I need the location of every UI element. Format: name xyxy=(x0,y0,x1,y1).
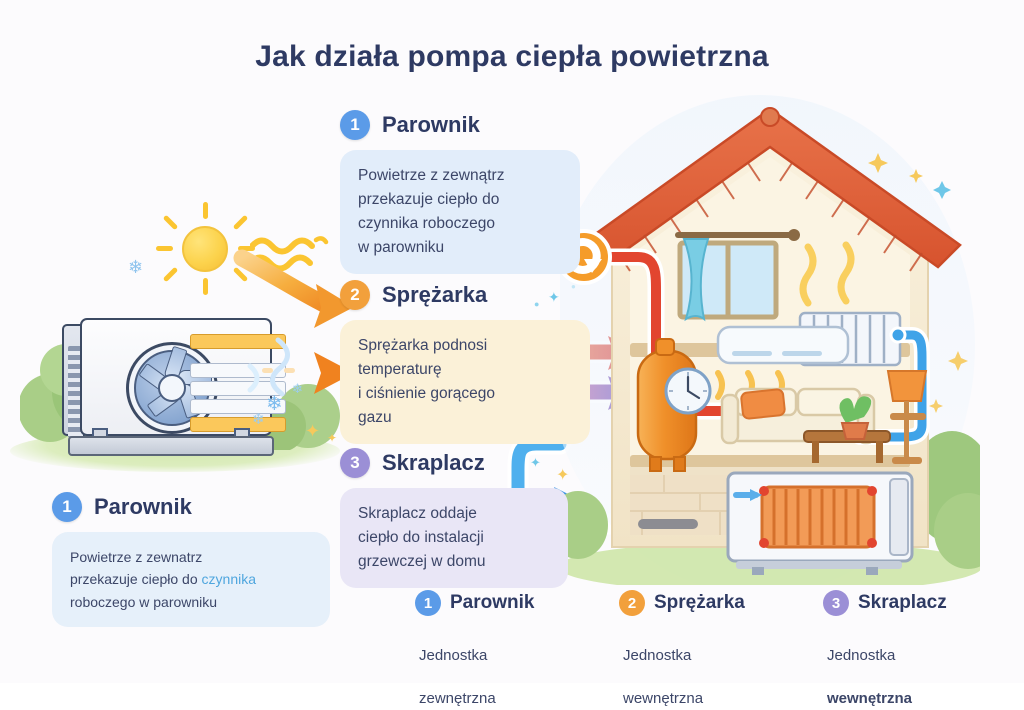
legend-sub-2-line2: wewnętrzna xyxy=(623,690,703,707)
step-header: 2 Sprężarka xyxy=(340,280,590,310)
legend-badge-3: 3 xyxy=(823,590,849,616)
step-body-2: Sprężarka podnosi temperaturę i ciśnieni… xyxy=(340,320,590,444)
legend-sub-1-line1: Jednostka xyxy=(419,647,487,664)
dup-text-highlight: czynnika xyxy=(202,571,256,587)
legend-item-sprezarka[interactable]: 2 Sprężarka Jednostka wewnętrzna xyxy=(619,590,769,710)
legend-sub-3-line1: Jednostka xyxy=(827,647,895,664)
step-card-skraplacz[interactable]: 3 Skraplacz Skraplacz oddaje ciepło do i… xyxy=(340,448,568,588)
step-badge-dup: 1 xyxy=(52,492,82,522)
sparkle-icon: ✦ xyxy=(305,422,320,440)
step-badge-2: 2 xyxy=(340,280,370,310)
step-header: 3 Skraplacz xyxy=(340,448,568,478)
legend-header: 2 Sprężarka xyxy=(619,590,769,616)
legend: 1 Parownik Jednostka zewnętrzna 2 Spręża… xyxy=(415,590,975,710)
legend-sub-2: Jednostka wewnętrzna xyxy=(623,623,769,710)
legend-badge-2: 2 xyxy=(619,590,645,616)
legend-sub-1-line2: zewnętrzna xyxy=(419,690,496,707)
fan-hub xyxy=(158,374,186,402)
step-header: 1 Parownik xyxy=(340,110,580,140)
legend-sub-1: Jednostka zewnętrzna xyxy=(419,623,565,710)
step-body-1: Powietrze z zewnątrz przekazuje ciepło d… xyxy=(340,150,580,274)
legend-item-skraplacz[interactable]: 3 Skraplacz Jednostka wewnętrzna xyxy=(823,590,973,710)
legend-item-parownik[interactable]: 1 Parownik Jednostka zewnętrzna xyxy=(415,590,565,710)
legend-header: 1 Parownik xyxy=(415,590,565,616)
legend-title-1: Parownik xyxy=(450,592,534,614)
dup-text-part1: Powietrze z zewnatrz przekazuje ciepło d… xyxy=(70,549,202,587)
page-title: Jak działa pompa ciepła powietrzna xyxy=(0,40,1024,74)
legend-sub-2-line1: Jednostka xyxy=(623,647,691,664)
snowflake-icon: ❄ xyxy=(128,258,143,276)
step-body-dup: Powietrze z zewnatrz przekazuje ciepło d… xyxy=(52,532,330,627)
condenser-coil-unit xyxy=(728,473,912,575)
step-title-1: Parownik xyxy=(382,112,480,138)
step-badge-1: 1 xyxy=(340,110,370,140)
legend-header: 3 Skraplacz xyxy=(823,590,973,616)
step-title-3: Skraplacz xyxy=(382,450,485,476)
legend-sub-3-line2: wewnętrzna xyxy=(827,690,912,707)
legend-title-2: Sprężarka xyxy=(654,592,745,614)
step-badge-3: 3 xyxy=(340,448,370,478)
step-header: 1 Parownik xyxy=(52,492,330,522)
snowflake-icon: ❄ xyxy=(252,412,265,427)
infographic-canvas: Jak działa pompa ciepła powietrzna xyxy=(0,0,1024,683)
step-card-parownik-secondary[interactable]: 1 Parownik Powietrze z zewnatrz przekazu… xyxy=(52,492,330,627)
step-card-parownik[interactable]: 1 Parownik Powietrze z zewnątrz przekazu… xyxy=(340,110,580,274)
dup-text-part2: roboczego w parowniku xyxy=(70,594,217,610)
sun-core xyxy=(182,226,228,272)
legend-sub-3: Jednostka wewnętrzna xyxy=(827,623,973,710)
house-cross-section xyxy=(560,95,980,585)
sparkle-icon: ✦ xyxy=(327,432,337,444)
step-title-2: Sprężarka xyxy=(382,282,487,308)
step-card-sprezarka[interactable]: 2 Sprężarka Sprężarka podnosi temperatur… xyxy=(340,280,590,444)
legend-title-3: Skraplacz xyxy=(858,592,947,614)
step-body-3: Skraplacz oddaje ciepło do instalacji gr… xyxy=(340,488,568,588)
step-title-dup: Parownik xyxy=(94,494,192,520)
split-air-conditioner-icon xyxy=(718,327,848,363)
legend-badge-1: 1 xyxy=(415,590,441,616)
